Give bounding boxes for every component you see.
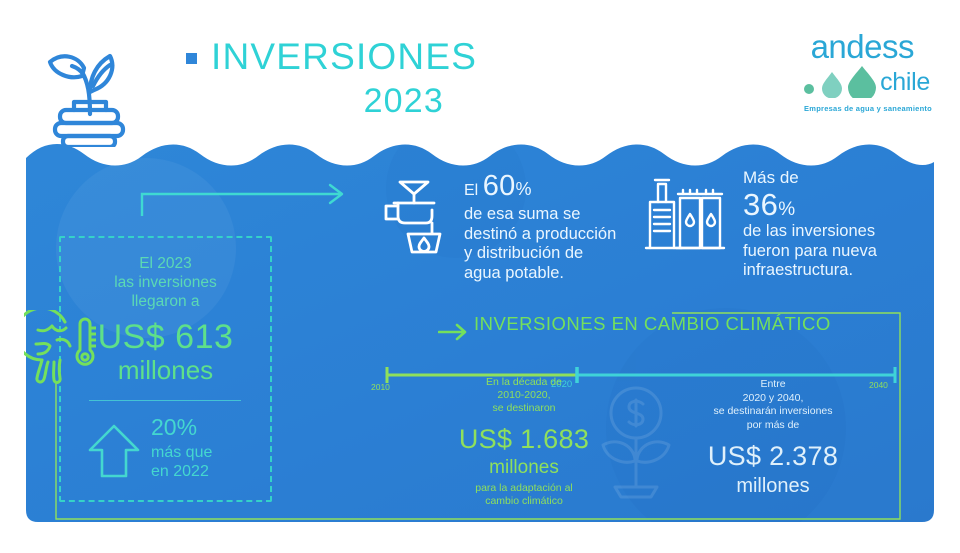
climate-past-note: para la adaptación al cambio climático: [424, 482, 624, 508]
highlight-lead-line-1: El 2023: [139, 255, 192, 272]
past-intro-line-1: En la década de: [486, 376, 562, 388]
past-intro-line-2: 2010-2020,: [497, 389, 550, 401]
past-intro-line-3: se destinaron: [492, 402, 555, 414]
right-arrow-icon: [438, 323, 468, 341]
future-intro-line-4: por más de: [747, 419, 800, 431]
pointer-arrow-icon: [136, 176, 356, 216]
future-intro-line-3: se destinarán inversiones: [713, 405, 832, 417]
infra-desc-line-2: fueron para nueva: [743, 242, 877, 260]
water-desc-line-1: de esa suma se: [464, 205, 580, 223]
water-stat-text: El 60% de esa suma se destinó a producci…: [464, 172, 639, 283]
brand-logo: andess chile Empresas de agua y saneamie…: [786, 30, 938, 74]
factory-icon: [644, 176, 726, 250]
water-stat-unit: %: [516, 179, 532, 199]
climate-future-unit: millones: [658, 476, 888, 496]
future-intro-line-1: Entre: [760, 378, 785, 390]
future-intro-line-2: 2020 y 2040,: [743, 392, 804, 404]
infographic-root: INVERSIONES 2023 andess chile Empresas d…: [0, 0, 960, 553]
climate-section-title: INVERSIONES EN CAMBIO CLIMÁTICO: [474, 313, 831, 335]
climate-past-block: En la década de 2010-2020, se destinaron…: [424, 376, 624, 508]
infra-stat-prefix: Más de: [743, 168, 933, 188]
climate-future-amount: US$ 2.378: [658, 443, 888, 470]
page-title: INVERSIONES 2023: [186, 38, 486, 118]
brand-name: andess: [811, 30, 914, 63]
infra-desc-line-1: de las inversiones: [743, 222, 875, 240]
infra-stat-value: 36: [743, 187, 778, 222]
past-note-line-1: para la adaptación al: [475, 482, 573, 494]
title-bullet-icon: [186, 53, 197, 64]
climate-future-intro: Entre 2020 y 2040, se destinarán inversi…: [658, 378, 888, 432]
infra-stat-description: de las inversiones fueron para nueva inf…: [743, 222, 933, 281]
main-panel: El 2023 las inversiones llegaron a US$ 6…: [26, 128, 934, 522]
water-desc-line-4: agua potable.: [464, 264, 564, 282]
title-text: INVERSIONES: [211, 38, 477, 75]
timeline-tick-2010: 2010: [371, 382, 390, 392]
climate-past-amount: US$ 1.683: [424, 426, 624, 453]
water-stat-description: de esa suma se destinó a producción y di…: [464, 205, 639, 283]
climate-future-block: Entre 2020 y 2040, se destinarán inversi…: [658, 378, 888, 496]
water-desc-line-3: y distribución de: [464, 244, 583, 262]
water-stat-prefix: El: [464, 182, 478, 199]
faucet-icon: [378, 176, 450, 254]
infra-stat-text: Más de 36% de las inversiones fueron par…: [743, 168, 933, 281]
infra-desc-line-3: infraestructura.: [743, 261, 853, 279]
brand-country: chile: [880, 70, 930, 95]
water-stat-value: 60: [483, 170, 516, 202]
melting-globe-thermometer-icon: [24, 310, 96, 384]
title-year: 2023: [186, 84, 444, 118]
climate-past-intro: En la década de 2010-2020, se destinaron: [424, 376, 624, 415]
climate-past-unit: millones: [424, 458, 624, 477]
highlight-lead-line-2: las inversiones: [114, 274, 217, 291]
brand-tagline: Empresas de agua y saneamiento: [804, 104, 932, 113]
water-desc-line-2: destinó a producción: [464, 225, 616, 243]
past-note-line-2: cambio climático: [485, 495, 563, 507]
infra-stat-unit: %: [778, 199, 795, 220]
